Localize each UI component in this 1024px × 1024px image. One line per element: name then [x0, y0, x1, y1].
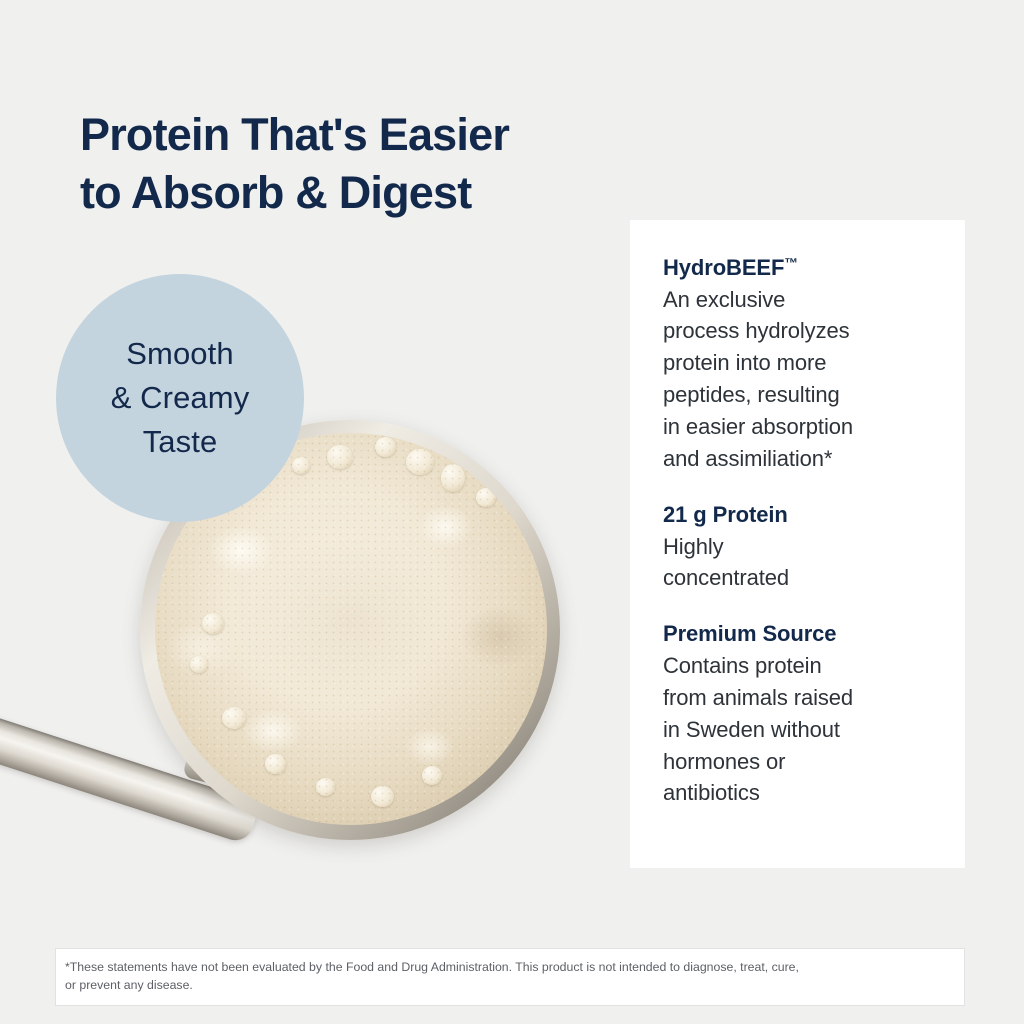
disclaimer-text: *These statements have not been evaluate…: [65, 958, 955, 995]
badge-line-2: & Creamy: [111, 376, 250, 420]
feature-body-line: An exclusive: [663, 284, 957, 316]
disclaimer-line: or prevent any disease.: [65, 976, 955, 994]
feature-premium-source: Premium Source Contains protein from ani…: [663, 620, 957, 809]
feature-title-text: 21 g Protein: [663, 502, 788, 527]
feature-body: Highly concentrated: [663, 531, 957, 595]
feature-body-line: process hydrolyzes: [663, 315, 957, 347]
feature-body-line: Highly: [663, 531, 957, 563]
feature-body-line: in easier absorption: [663, 411, 957, 443]
feature-body-line: hormones or: [663, 746, 957, 778]
feature-title-text: Premium Source: [663, 621, 836, 646]
feature-body-line: and assimiliation*: [663, 443, 957, 475]
feature-body-line: in Sweden without: [663, 714, 957, 746]
badge-label: Smooth & Creamy Taste: [111, 332, 250, 464]
feature-title: HydroBEEF™: [663, 254, 957, 283]
feature-body-line: protein into more: [663, 347, 957, 379]
badge-line-1: Smooth: [111, 332, 250, 376]
feature-title: 21 g Protein: [663, 501, 957, 530]
trademark-icon: ™: [784, 256, 798, 271]
feature-list: HydroBEEF™ An exclusive process hydrolyz…: [663, 254, 957, 809]
feature-title-text: HydroBEEF: [663, 255, 784, 280]
feature-body: Contains protein from animals raised in …: [663, 650, 957, 809]
infographic-canvas: Protein That's Easier to Absorb & Digest: [0, 0, 1024, 1024]
feature-hydrobeef: HydroBEEF™ An exclusive process hydrolyz…: [663, 254, 957, 475]
feature-body: An exclusive process hydrolyzes protein …: [663, 284, 957, 475]
headline-line-2: to Absorb & Digest: [80, 164, 640, 222]
badge-line-3: Taste: [111, 420, 250, 464]
feature-body-line: antibiotics: [663, 777, 957, 809]
feature-title: Premium Source: [663, 620, 957, 649]
feature-body-line: concentrated: [663, 562, 957, 594]
disclaimer-line: *These statements have not been evaluate…: [65, 958, 955, 976]
disclaimer-box: *These statements have not been evaluate…: [55, 948, 965, 1006]
feature-protein-amount: 21 g Protein Highly concentrated: [663, 501, 957, 594]
page-title: Protein That's Easier to Absorb & Digest: [80, 106, 640, 222]
smooth-creamy-badge: Smooth & Creamy Taste: [56, 274, 304, 522]
feature-body-line: peptides, resulting: [663, 379, 957, 411]
feature-body-line: from animals raised: [663, 682, 957, 714]
headline-line-1: Protein That's Easier: [80, 106, 640, 164]
feature-panel: HydroBEEF™ An exclusive process hydrolyz…: [630, 220, 965, 868]
feature-body-line: Contains protein: [663, 650, 957, 682]
